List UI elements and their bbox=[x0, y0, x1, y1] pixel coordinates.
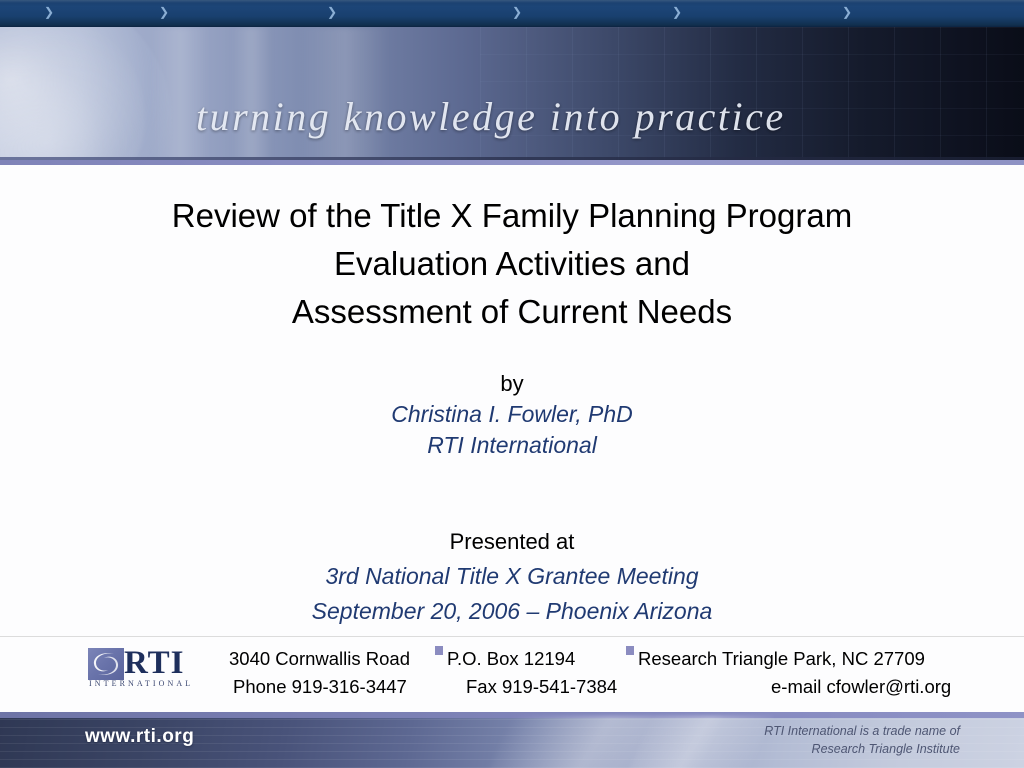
trade-name-line-2: Research Triangle Institute bbox=[764, 740, 960, 758]
bullet-square-2 bbox=[626, 646, 634, 655]
rti-swirl-icon bbox=[92, 651, 120, 677]
chevron-icon-4: ❯ bbox=[512, 6, 522, 18]
trade-name-notice: RTI International is a trade name of Res… bbox=[764, 722, 960, 758]
author-name: Christina I. Fowler, PhD bbox=[0, 399, 1024, 430]
top-navy-bar: ❯ ❯ ❯ ❯ ❯ ❯ bbox=[0, 0, 1024, 27]
top-bar-sheen bbox=[0, 0, 1024, 3]
rti-subtext: INTERNATIONAL bbox=[89, 679, 193, 689]
footer-divider bbox=[0, 636, 1024, 637]
presented-at-label: Presented at bbox=[0, 524, 1024, 559]
chevron-icon-1: ❯ bbox=[44, 6, 54, 18]
contact-po-box: P.O. Box 12194 bbox=[447, 645, 575, 673]
bullet-square-1 bbox=[435, 646, 443, 655]
contact-fax: Fax 919-541-7384 bbox=[466, 673, 617, 701]
page-title: Review of the Title X Family Planning Pr… bbox=[0, 192, 1024, 336]
header-banner: turning knowledge into practice bbox=[0, 27, 1024, 163]
contact-address-street: 3040 Cornwallis Road bbox=[229, 645, 410, 673]
author-organization: RTI International bbox=[0, 430, 1024, 461]
contact-phone: Phone 919-316-3447 bbox=[233, 673, 407, 701]
trade-name-line-1: RTI International is a trade name of bbox=[764, 722, 960, 740]
slide-canvas: ❯ ❯ ❯ ❯ ❯ ❯ turning knowledge into pract… bbox=[0, 0, 1024, 768]
title-line-3: Assessment of Current Needs bbox=[0, 288, 1024, 336]
bottom-bar-streak-2 bbox=[627, 716, 773, 768]
banner-accent-line bbox=[0, 160, 1024, 165]
chevron-icon-2: ❯ bbox=[159, 6, 169, 18]
title-line-2: Evaluation Activities and bbox=[0, 240, 1024, 288]
rti-logo: RTI INTERNATIONAL bbox=[88, 648, 220, 690]
presented-block: Presented at 3rd National Title X Grante… bbox=[0, 524, 1024, 629]
rti-wordmark: RTI bbox=[124, 645, 185, 681]
chevron-icon-6: ❯ bbox=[842, 6, 852, 18]
title-line-1: Review of the Title X Family Planning Pr… bbox=[0, 192, 1024, 240]
author-block: by Christina I. Fowler, PhD RTI Internat… bbox=[0, 368, 1024, 461]
banner-tagline: turning knowledge into practice bbox=[196, 93, 786, 140]
chevron-icon-5: ❯ bbox=[672, 6, 682, 18]
contact-city-state-zip: Research Triangle Park, NC 27709 bbox=[638, 645, 925, 673]
chevron-icon-3: ❯ bbox=[327, 6, 337, 18]
by-label: by bbox=[0, 368, 1024, 399]
website-url[interactable]: www.rti.org bbox=[85, 726, 194, 748]
event-date-location: September 20, 2006 – Phoenix Arizona bbox=[0, 594, 1024, 629]
contact-email: e-mail cfowler@rti.org bbox=[771, 673, 951, 701]
event-name: 3rd National Title X Grantee Meeting bbox=[0, 559, 1024, 594]
